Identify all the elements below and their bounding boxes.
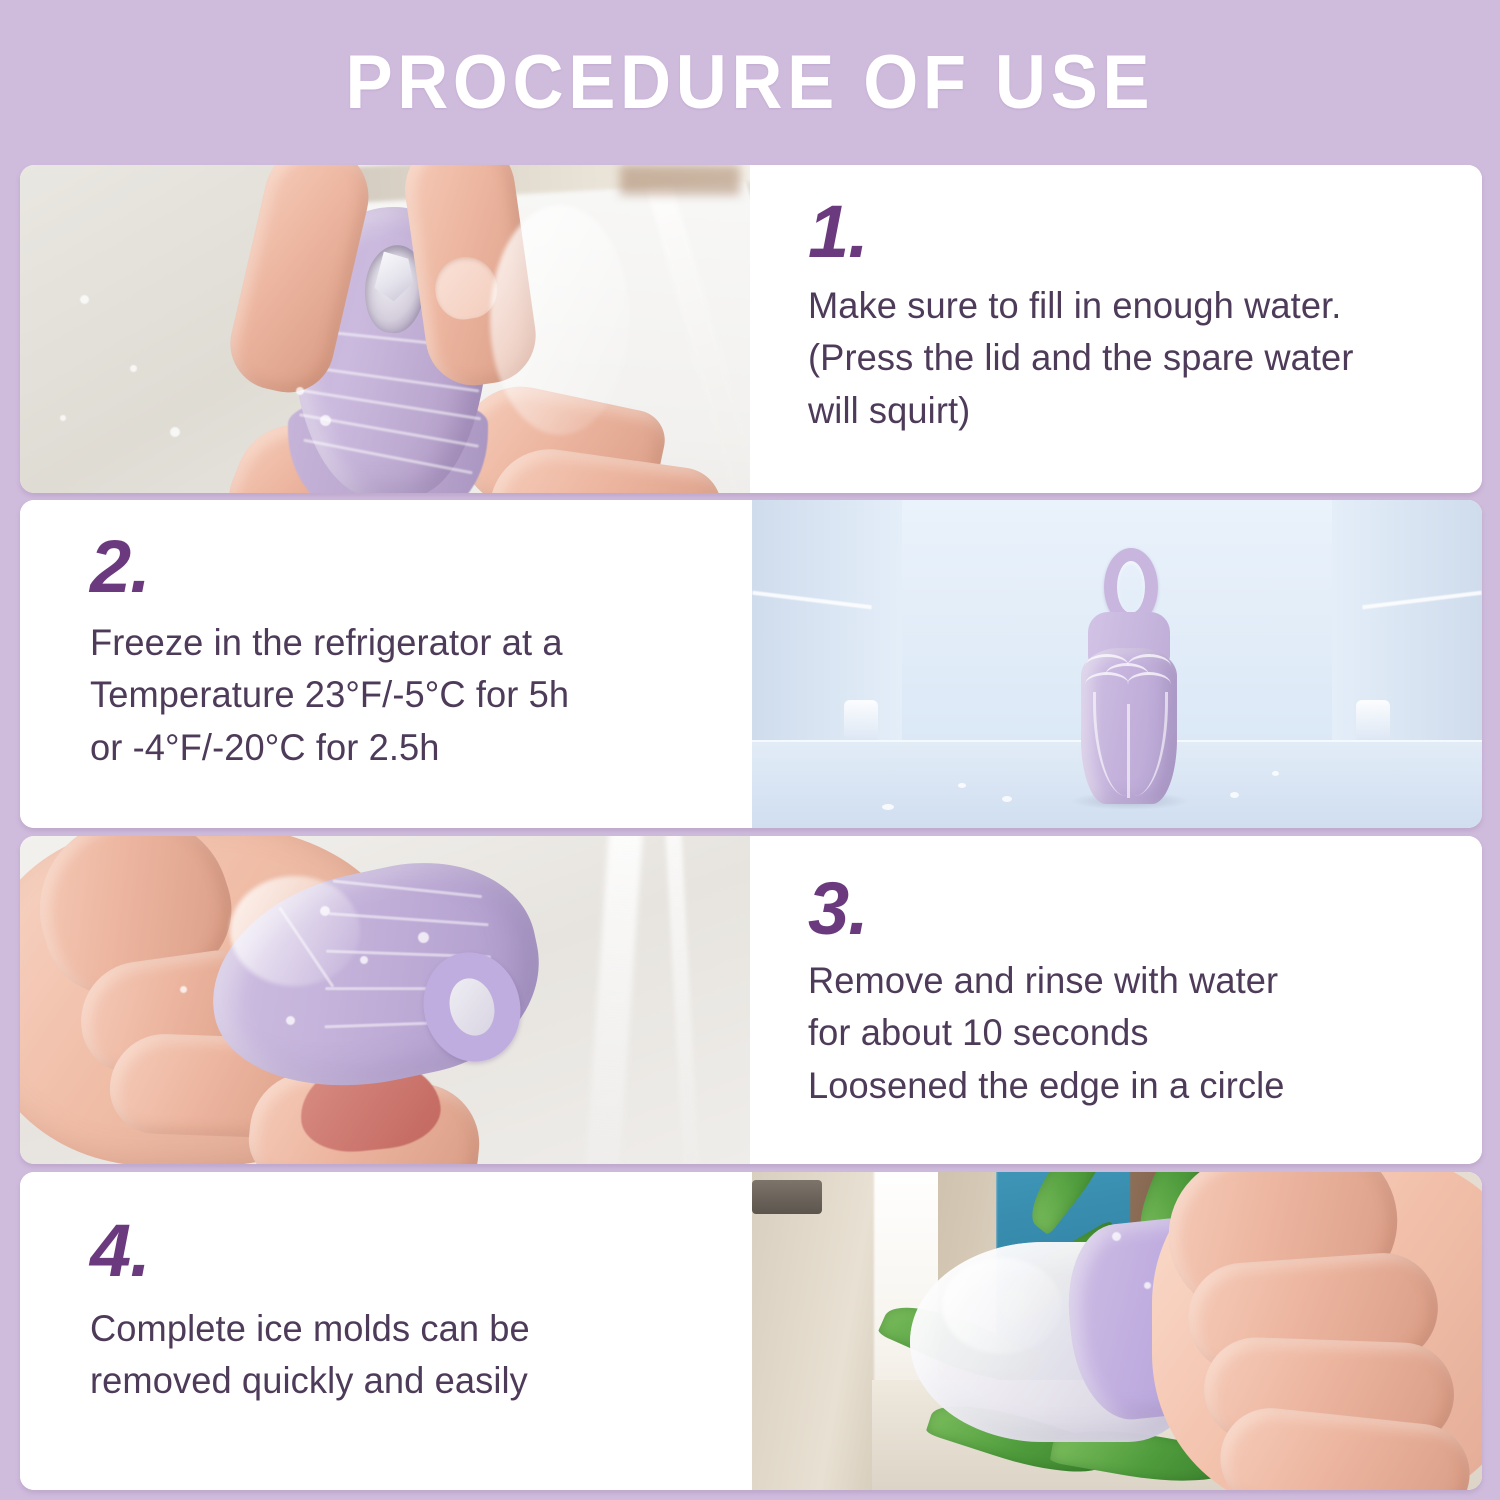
step-2-photo	[752, 500, 1482, 828]
title-bar: PROCEDURE OF USE	[0, 0, 1500, 165]
freezer-clip-right	[1356, 700, 1390, 742]
step-3-body: Remove and rinse with water for about 10…	[808, 955, 1425, 1113]
step-row-1: 1. Make sure to fill in enough water. (P…	[20, 165, 1482, 493]
step-1-number: 1.	[808, 199, 1438, 266]
step-4-photo	[752, 1172, 1482, 1490]
step-1-body: Make sure to fill in enough water. (Pres…	[808, 280, 1425, 438]
step-4-text-pane: 4. Complete ice molds can be removed qui…	[20, 1172, 752, 1490]
step-2-number: 2.	[90, 534, 708, 601]
page-title: PROCEDURE OF USE	[346, 45, 1155, 121]
window-latch	[752, 1180, 822, 1214]
step-row-4: 4. Complete ice molds can be removed qui…	[20, 1172, 1482, 1490]
water-stream	[582, 836, 644, 1164]
infographic-page: PROCEDURE OF USE	[0, 0, 1500, 1500]
step-1-photo	[20, 165, 750, 493]
step-3-photo	[20, 836, 750, 1164]
ice-mold-body	[1081, 648, 1177, 804]
step-3-number: 3.	[808, 876, 1438, 943]
freezer-clip-left	[844, 700, 878, 742]
step-4-body: Complete ice molds can be removed quickl…	[90, 1303, 696, 1408]
step-1-text-pane: 1. Make sure to fill in enough water. (P…	[750, 165, 1482, 493]
step-row-3: 3. Remove and rinse with water for about…	[20, 836, 1482, 1164]
counter-corner	[620, 165, 740, 195]
step-2-body: Freeze in the refrigerator at a Temperat…	[90, 617, 696, 775]
step-row-2: 2. Freeze in the refrigerator at a Tempe…	[20, 500, 1482, 828]
step-4-number: 4.	[90, 1218, 708, 1285]
step-3-text-pane: 3. Remove and rinse with water for about…	[750, 836, 1482, 1164]
water-stream-secondary	[665, 836, 700, 1164]
step-2-text-pane: 2. Freeze in the refrigerator at a Tempe…	[20, 500, 752, 828]
